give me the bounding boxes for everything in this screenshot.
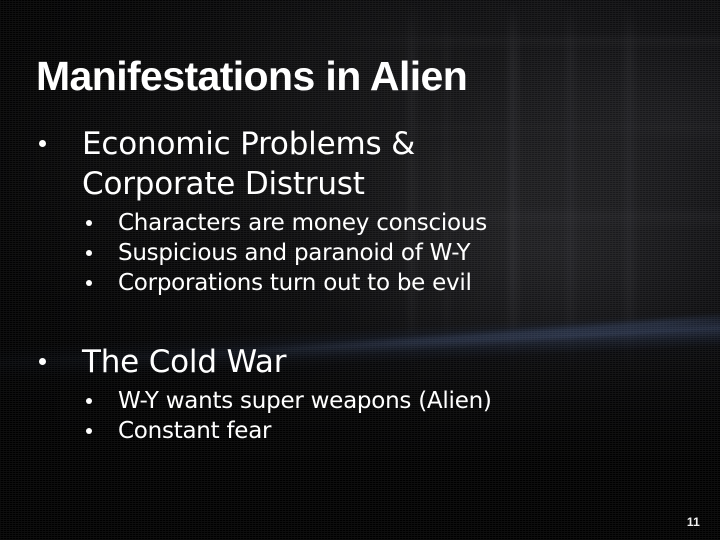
bullet-text: Economic Problems & Corporate Distrust bbox=[82, 124, 512, 204]
sub-bullet-item: Suspicious and paranoid of W-Y bbox=[82, 238, 720, 268]
bullet-dot-icon bbox=[39, 140, 46, 147]
sub-bullet-item: Constant fear bbox=[82, 416, 720, 446]
sub-bullet-text: Corporations turn out to be evil bbox=[118, 268, 720, 298]
bullet-dot-icon bbox=[39, 358, 46, 365]
sub-bullet-item: Characters are money conscious bbox=[82, 208, 720, 238]
bullet-list-level2: W-Y wants super weapons (Alien) Constant… bbox=[82, 386, 720, 446]
slide-body: Economic Problems & Corporate Distrust C… bbox=[0, 124, 720, 446]
sub-bullet-text: Suspicious and paranoid of W-Y bbox=[118, 238, 720, 268]
slide-content: Manifestations in Alien Economic Problem… bbox=[0, 0, 720, 540]
sub-bullet-dot-icon bbox=[86, 280, 92, 286]
sub-bullet-dot-icon bbox=[86, 220, 92, 226]
sub-bullet-text: Constant fear bbox=[118, 416, 720, 446]
sub-bullet-text: W-Y wants super weapons (Alien) bbox=[118, 386, 720, 416]
sub-bullet-dot-icon bbox=[86, 250, 92, 256]
bullet-item-economic: Economic Problems & Corporate Distrust C… bbox=[0, 124, 720, 298]
bullet-list-level2: Characters are money conscious Suspiciou… bbox=[82, 208, 720, 298]
bullet-group-spacer bbox=[0, 298, 720, 342]
bullet-list-level1: Economic Problems & Corporate Distrust C… bbox=[0, 124, 720, 446]
sub-bullet-item: Corporations turn out to be evil bbox=[82, 268, 720, 298]
slide-title: Manifestations in Alien bbox=[36, 53, 684, 100]
bullet-text: The Cold War bbox=[82, 342, 512, 382]
presentation-slide: Manifestations in Alien Economic Problem… bbox=[0, 0, 720, 540]
sub-bullet-text: Characters are money conscious bbox=[118, 208, 720, 238]
bullet-item-cold-war: The Cold War W-Y wants super weapons (Al… bbox=[0, 342, 720, 446]
sub-bullet-dot-icon bbox=[86, 428, 92, 434]
slide-page-number: 11 bbox=[687, 515, 700, 529]
sub-bullet-item: W-Y wants super weapons (Alien) bbox=[82, 386, 720, 416]
sub-bullet-dot-icon bbox=[86, 398, 92, 404]
